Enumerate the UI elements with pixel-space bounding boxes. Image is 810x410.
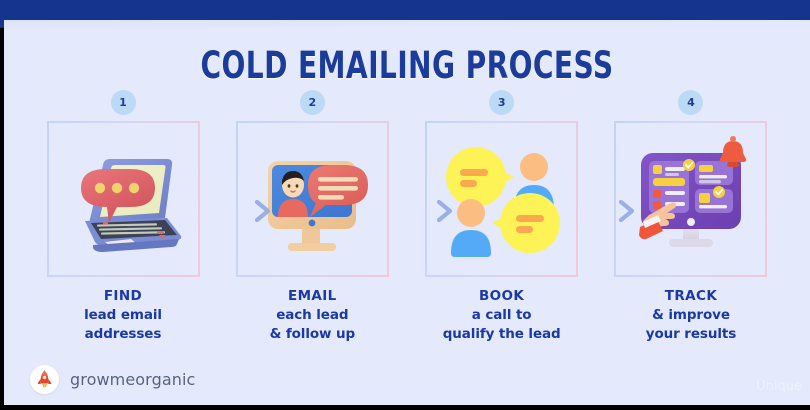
- steps-row: 1: [44, 90, 770, 380]
- step-1-keyword: FIND: [84, 287, 162, 306]
- step-1-number-badge: 1: [111, 90, 136, 115]
- step-3-caption: BOOK a call to qualify the lead: [443, 287, 561, 344]
- rocket-icon: [30, 365, 59, 394]
- dashboard-tracking-icon: [627, 135, 755, 263]
- step-2-caption: EMAIL each lead & follow up: [270, 287, 356, 344]
- step-4-line2: & improve: [652, 307, 730, 323]
- bottom-strip: [0, 405, 810, 410]
- step-2-line2: each lead: [276, 307, 348, 323]
- watermark-text: Unique: [756, 379, 802, 394]
- page-title: COLD EMAILING PROCESS: [101, 44, 714, 87]
- infographic-root: COLD EMAILING PROCESS 1: [0, 0, 810, 410]
- step-1-card[interactable]: [47, 121, 200, 277]
- chevron-right-icon-3: [616, 198, 638, 224]
- step-1-line2: lead email: [84, 307, 162, 323]
- brand-name: growmeorganic: [70, 370, 195, 389]
- step-4-caption: TRACK & improve your results: [646, 287, 736, 344]
- laptop-with-chat-bubble-icon: [59, 135, 187, 263]
- chevron-right-icon-1: [252, 198, 274, 224]
- step-3-keyword: BOOK: [443, 287, 561, 306]
- step-4-keyword: TRACK: [646, 287, 736, 306]
- footer-brand[interactable]: growmeorganic: [30, 365, 195, 394]
- two-people-conversation-icon: [438, 135, 566, 263]
- step-3-line2: a call to: [472, 307, 532, 323]
- step-1[interactable]: 1: [44, 90, 202, 344]
- step-3-line3: qualify the lead: [443, 326, 561, 342]
- step-4-number-badge: 4: [678, 90, 703, 115]
- step-2-keyword: EMAIL: [270, 287, 356, 306]
- step-3-number-badge: 3: [489, 90, 514, 115]
- step-1-caption: FIND lead email addresses: [84, 287, 162, 344]
- step-1-line3: addresses: [85, 326, 162, 342]
- step-2-line3: & follow up: [270, 326, 356, 342]
- slide-canvas: COLD EMAILING PROCESS 1: [4, 20, 810, 406]
- chevron-right-icon-2: [434, 198, 456, 224]
- step-4-line3: your results: [646, 326, 736, 342]
- canvas-top-fade: [4, 20, 810, 32]
- step-2-number-badge: 2: [300, 90, 325, 115]
